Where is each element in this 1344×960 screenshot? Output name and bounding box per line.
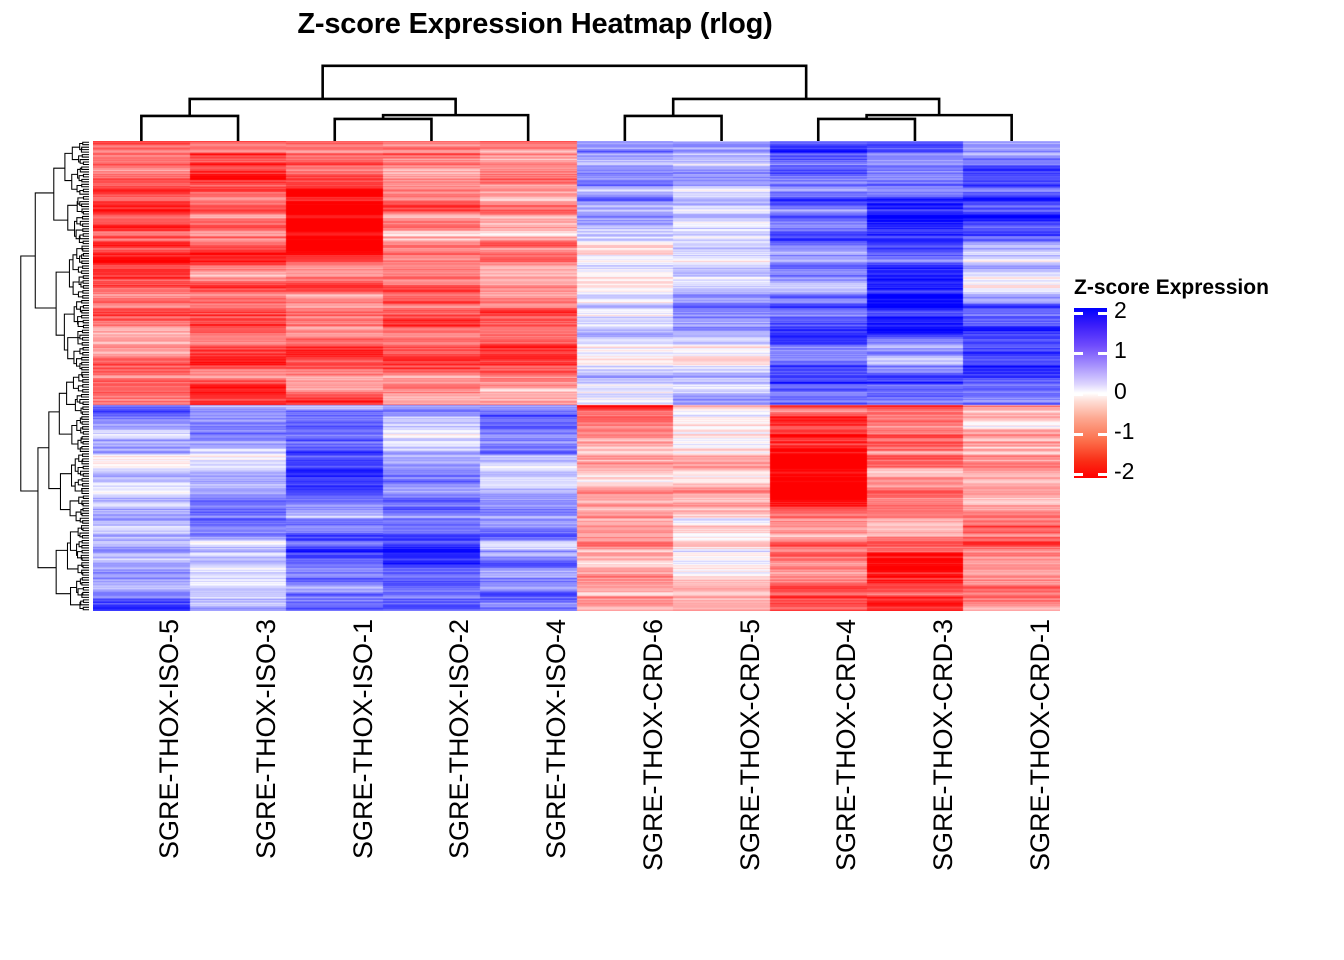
legend-tick-mark-left-1	[1074, 352, 1083, 355]
legend-tick-label-0: 0	[1114, 380, 1127, 403]
legend-tick-mark-right--1	[1098, 433, 1107, 436]
page-title: Z-score Expression Heatmap (rlog)	[0, 8, 1070, 41]
legend-tick-mark-right--2	[1098, 473, 1107, 476]
column-label-axis: SGRE-THOX-ISO-5SGRE-THOX-ISO-3SGRE-THOX-…	[93, 611, 1060, 931]
column-label-4: SGRE-THOX-ISO-2	[444, 619, 475, 859]
column-dendrogram	[93, 58, 1060, 141]
heatmap	[93, 141, 1060, 611]
row-dendrogram	[14, 141, 89, 611]
legend-tick-label--2: -2	[1114, 460, 1134, 483]
legend-tick-mark-right-0	[1098, 393, 1107, 396]
column-label-8: SGRE-THOX-CRD-4	[831, 619, 862, 871]
legend-tick-mark-left--2	[1074, 473, 1083, 476]
column-label-9: SGRE-THOX-CRD-3	[928, 619, 959, 871]
column-label-7: SGRE-THOX-CRD-5	[735, 619, 766, 871]
legend-tick-mark-left--1	[1074, 433, 1083, 436]
legend-tick-mark-right-1	[1098, 352, 1107, 355]
legend-tick-mark-right-2	[1098, 312, 1107, 315]
column-label-6: SGRE-THOX-CRD-6	[638, 619, 669, 871]
column-label-3: SGRE-THOX-ISO-1	[348, 619, 379, 859]
legend-tick-label-1: 1	[1114, 339, 1127, 362]
plot-canvas: Z-score Expression Heatmap (rlog) SGRE-T…	[0, 0, 1344, 960]
legend-tick-mark-left-2	[1074, 312, 1083, 315]
heatmap-cells	[93, 141, 1060, 611]
column-label-10: SGRE-THOX-CRD-1	[1025, 619, 1056, 871]
legend-tick-mark-left-0	[1074, 393, 1083, 396]
column-label-2: SGRE-THOX-ISO-3	[251, 619, 282, 859]
legend-tick-label--1: -1	[1114, 420, 1134, 443]
legend-tick-label-2: 2	[1114, 299, 1127, 322]
column-label-1: SGRE-THOX-ISO-5	[154, 619, 185, 859]
legend-title: Z-score Expression	[1074, 276, 1269, 300]
column-label-5: SGRE-THOX-ISO-4	[541, 619, 572, 859]
